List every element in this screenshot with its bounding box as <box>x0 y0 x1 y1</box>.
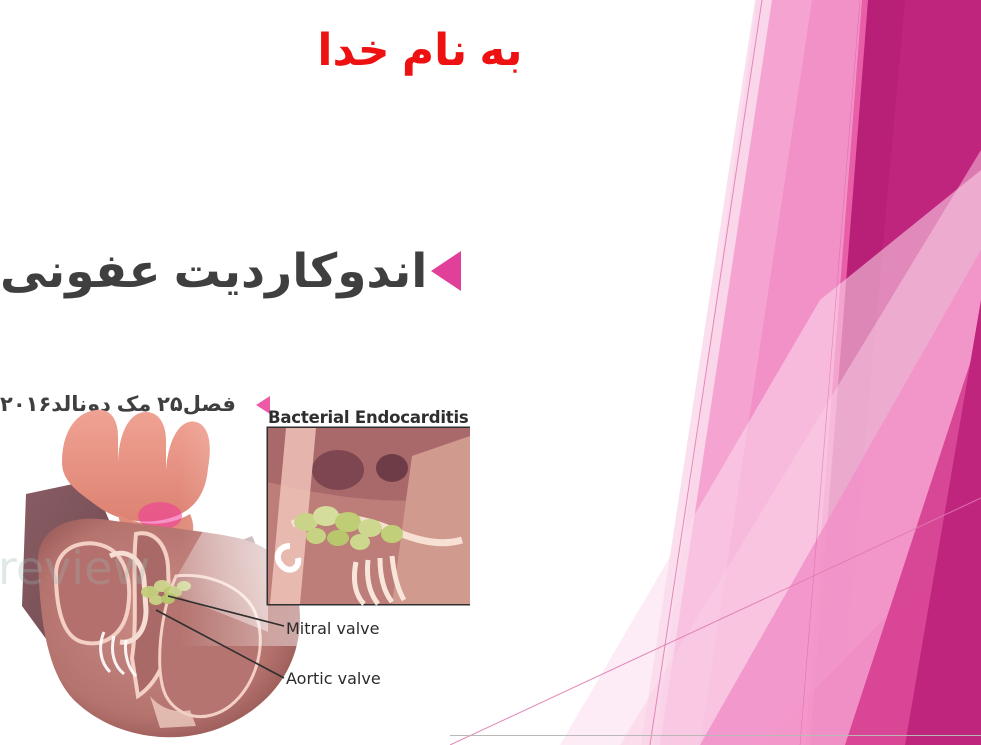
decor-shape-deep-left-edge <box>795 0 905 745</box>
decor-shape-mid <box>676 0 868 745</box>
inset-dark-cavity-2 <box>376 454 408 482</box>
page-title: اندوکاردیت عفونی <box>0 243 427 299</box>
figure-watermark: review <box>0 541 150 595</box>
decor-shape-deep-main <box>805 0 981 745</box>
decor-shape-lower-deep <box>845 330 981 745</box>
bottom-divider <box>450 735 981 736</box>
decor-shape-lower-deepest <box>905 300 981 745</box>
inset-dark-cavity-1 <box>312 450 364 490</box>
decor-shape-lower-bright <box>700 250 981 745</box>
slide-title: اندوکاردیت عفونی <box>0 243 760 299</box>
heart-endocarditis-illustration: review <box>0 396 470 745</box>
label-aortic-valve: Aortic valve <box>286 669 381 688</box>
decor-shape-pale-wash-2 <box>620 150 981 745</box>
heart-diagram-svg: review <box>0 396 470 745</box>
slide-canvas: به نام خدا اندوکاردیت عفونی فصل۲۵ مک دون… <box>0 0 981 745</box>
inset-caption: Bacterial Endocarditis <box>268 408 469 427</box>
decor-shape-light <box>655 0 862 745</box>
label-mitral-valve: Mitral valve <box>286 619 379 638</box>
inset-panel <box>268 428 470 604</box>
bismillah-heading: به نام خدا <box>0 26 840 77</box>
decor-shape-faint-sliver <box>641 0 772 745</box>
decor-hairline-diagonal-top <box>650 0 762 745</box>
decor-shape-pale-upper <box>655 0 812 745</box>
decor-hairline-diagonal-mid <box>800 0 860 745</box>
decor-hairline-diagonal-long <box>450 498 981 745</box>
decor-shape-deep-right <box>868 0 981 745</box>
triangle-bullet-icon <box>431 251 461 291</box>
